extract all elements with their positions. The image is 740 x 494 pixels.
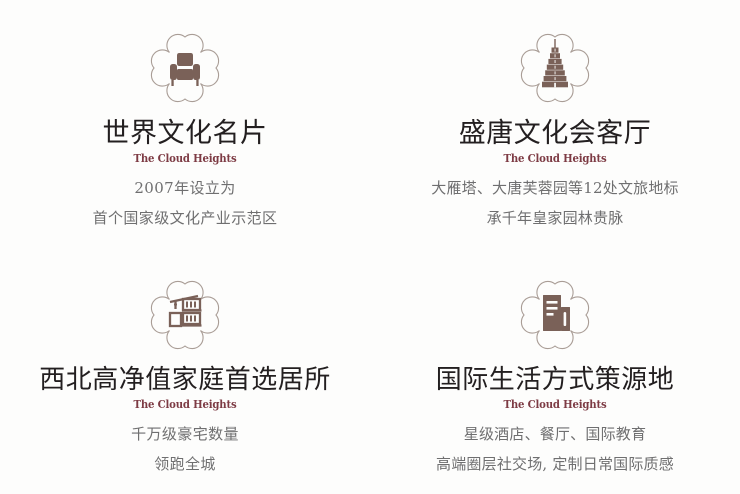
feature-body-line: 2007年设立为 xyxy=(93,181,278,196)
feature-headline: 西北高净值家庭首选居所 xyxy=(39,365,331,396)
feature-body-line: 星级酒店、餐厅、国际教育 xyxy=(436,427,674,442)
armchair-icon xyxy=(139,22,231,114)
feature-card-tang-culture-lounge: 盛唐文化会客厅 The Cloud Heights 大雁塔、大唐芙蓉园等12处文… xyxy=(370,0,740,247)
feature-headline: 国际生活方式策源地 xyxy=(436,365,675,396)
brand-subtitle: The Cloud Heights xyxy=(134,399,237,410)
feature-body-line: 高端圈层社交场, 定制日常国际质感 xyxy=(436,457,674,472)
feature-body-line: 承千年皇家园林贵脉 xyxy=(431,211,679,226)
feature-card-cultural-card: 世界文化名片 The Cloud Heights 2007年设立为 首个国家级文… xyxy=(0,0,370,247)
feature-body: 千万级豪宅数量 领跑全城 xyxy=(131,427,239,472)
villa-icon xyxy=(139,269,231,361)
feature-card-international-lifestyle: 国际生活方式策源地 The Cloud Heights 星级酒店、餐厅、国际教育… xyxy=(370,247,740,494)
feature-grid: 世界文化名片 The Cloud Heights 2007年设立为 首个国家级文… xyxy=(0,0,740,494)
pagoda-icon xyxy=(509,22,601,114)
brand-subtitle: The Cloud Heights xyxy=(134,153,237,164)
highrise-building-icon xyxy=(509,269,601,361)
feature-body: 大雁塔、大唐芙蓉园等12处文旅地标 承千年皇家园林贵脉 xyxy=(431,181,679,226)
feature-body-line: 领跑全城 xyxy=(131,457,239,472)
feature-body-line: 千万级豪宅数量 xyxy=(131,427,239,442)
brand-subtitle: The Cloud Heights xyxy=(504,399,607,410)
feature-card-preferred-residence: 西北高净值家庭首选居所 The Cloud Heights 千万级豪宅数量 领跑… xyxy=(0,247,370,494)
brand-subtitle: The Cloud Heights xyxy=(504,153,607,164)
feature-headline: 盛唐文化会客厅 xyxy=(459,118,652,150)
feature-body-line: 大雁塔、大唐芙蓉园等12处文旅地标 xyxy=(431,181,679,196)
feature-body: 星级酒店、餐厅、国际教育 高端圈层社交场, 定制日常国际质感 xyxy=(436,427,674,472)
feature-body-line: 首个国家级文化产业示范区 xyxy=(93,211,278,226)
feature-body: 2007年设立为 首个国家级文化产业示范区 xyxy=(93,181,278,226)
feature-headline: 世界文化名片 xyxy=(103,118,268,150)
